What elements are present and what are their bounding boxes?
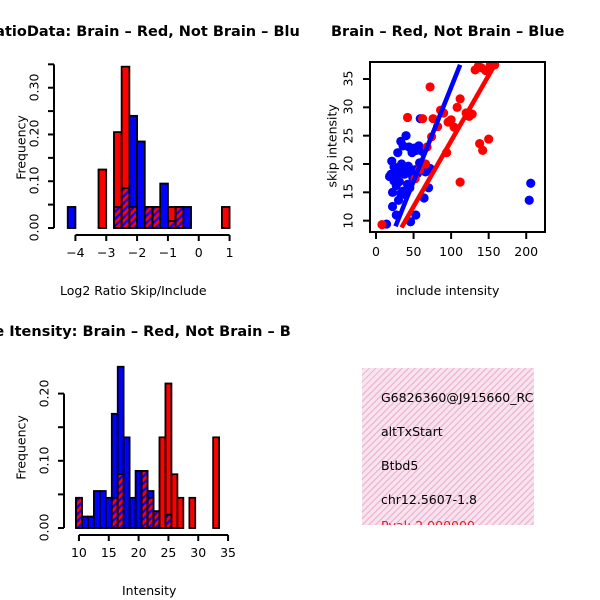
panel-ratio-histogram: RatioData: Brain – Red, Not Brain – Blu … [0, 0, 300, 300]
scatter-point [377, 220, 386, 229]
info-line-locus: chr12.5607-1.8 [381, 492, 477, 507]
hist1-ytick: 0.10 [27, 161, 42, 201]
histogram-bar [177, 498, 183, 528]
histogram-bar-overlap [76, 498, 82, 528]
histogram-bar [100, 491, 106, 528]
scat-xtick: 0 [356, 244, 396, 259]
histogram-bar-overlap [176, 207, 184, 228]
histogram-bar-overlap [154, 511, 160, 528]
scatter-point [525, 196, 534, 205]
histogram-bar [68, 207, 76, 228]
scat-xtick: 50 [394, 244, 434, 259]
histogram-bar [130, 498, 136, 528]
hist2-bars [76, 367, 219, 528]
info-line-gene: Btbd5 [381, 458, 418, 473]
histogram-bar-overlap [142, 471, 148, 528]
info-line-pval: Pval: 2.000000 [381, 518, 475, 525]
scat-points [377, 60, 535, 229]
scatter-point [387, 157, 396, 166]
hist2-ytick: 0.00 [37, 508, 52, 548]
scatter-point [425, 82, 434, 91]
histogram-bar [222, 207, 230, 228]
scatter-point [393, 148, 402, 157]
hist2-ytick: 0.10 [37, 440, 52, 480]
histogram-bar [136, 471, 142, 528]
scatter-point [484, 134, 493, 143]
histogram-bar-overlap [165, 515, 171, 528]
hist1-xtick: 1 [210, 245, 250, 260]
figure-canvas: RatioData: Brain – Red, Not Brain – Blu … [0, 0, 600, 600]
hist2-xtick: 35 [208, 545, 248, 560]
histogram-bar [213, 437, 219, 528]
hist1-ytick: 0.30 [27, 67, 42, 107]
scatter-point [526, 179, 535, 188]
histogram-bar-overlap [168, 221, 176, 228]
gene-info-box: G6826360@J915660_RC altTxStart Btbd5 chr… [362, 368, 534, 525]
histogram-bar-overlap [129, 207, 137, 228]
hist2-ytick: 0.20 [37, 373, 52, 413]
scat-ytick: 35 [341, 59, 356, 99]
histogram-bar [171, 474, 177, 528]
scat-xtick: 150 [469, 244, 509, 259]
panel-intensity-scatter: Brain – Red, Not Brain – Blue skip inten… [300, 0, 600, 300]
scatter-point [456, 94, 465, 103]
scatter-point [478, 146, 487, 155]
histogram-bar [99, 170, 107, 228]
scatter-point [418, 114, 427, 123]
histogram-bar [106, 498, 112, 528]
histogram-bar-overlap [145, 207, 153, 228]
histogram-bar-overlap [153, 207, 161, 228]
hist1-ytick: 0.00 [27, 208, 42, 248]
histogram-bar-overlap [148, 498, 154, 528]
histogram-bar [189, 498, 195, 528]
histogram-bar [124, 437, 130, 528]
histogram-bar [82, 517, 88, 528]
histogram-bar [165, 384, 171, 528]
histogram-bar [94, 491, 100, 528]
histogram-bar [183, 207, 191, 228]
histogram-bar-overlap [122, 188, 130, 228]
scatter-point [456, 178, 465, 187]
scat-xtick: 100 [431, 244, 471, 259]
hist1-ytick: 0.20 [27, 114, 42, 154]
panel-gene-intensity-histogram: ne Itensity: Brain – Red, Not Brain – B … [0, 300, 300, 600]
histogram-bar [137, 141, 145, 228]
info-line-event: altTxStart [381, 424, 443, 439]
hist1-bars [68, 67, 230, 228]
info-line-id: G6826360@J915660_RC [381, 390, 533, 405]
scat-xtick: 200 [506, 244, 546, 259]
scatter-point [403, 113, 412, 122]
histogram-bar [159, 437, 165, 528]
histogram-bar [88, 517, 94, 528]
scatter-point [453, 103, 462, 112]
histogram-bar-overlap [114, 207, 122, 228]
histogram-bar-overlap [112, 498, 118, 528]
histogram-bar-overlap [118, 474, 124, 528]
histogram-bar [160, 184, 168, 228]
